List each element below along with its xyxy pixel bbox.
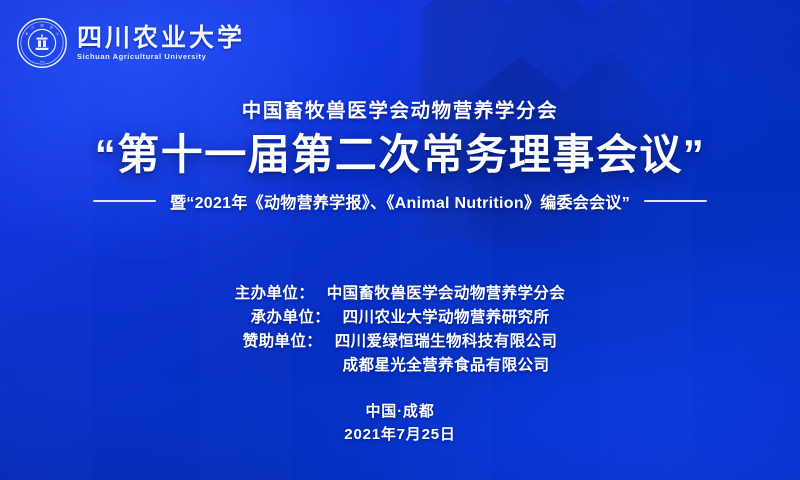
- footer-block: 中国·成都 2021年7月25日: [0, 400, 800, 447]
- credit-row: 主办单位： 中国畜牧兽医学会动物营养学分会: [235, 283, 566, 305]
- organization-kicker: 中国畜牧兽医学会动物营养学分会: [0, 100, 800, 123]
- credit-row: 赞助单位： 四川爱绿恒瑞生物科技有限公司: [243, 331, 558, 353]
- credit-value: 成都星光全营养食品有限公司: [343, 355, 550, 377]
- event-title: “第十一届第二次常务理事会议”: [0, 132, 800, 177]
- credit-label: 主办单位：: [235, 283, 327, 305]
- university-logo: 四 川 学 农 大 1906 四川农业大学 Sichuan Agricultur…: [16, 17, 245, 69]
- university-wordmark: 四川农业大学 Sichuan Agricultural University: [77, 26, 245, 60]
- credit-label: 赞助单位：: [243, 331, 335, 353]
- credits-block: 主办单位： 中国畜牧兽医学会动物营养学分会 承办单位： 四川农业大学动物营养研究…: [0, 283, 800, 377]
- rule-left: [93, 200, 156, 202]
- event-date: 2021年7月25日: [0, 423, 800, 446]
- credit-row-continuation: 成都星光全营养食品有限公司: [251, 355, 550, 377]
- event-subtitle-row: 暨“2021年《动物营养学报》、《Animal Nutrition》编委会会议”: [0, 189, 800, 213]
- credit-value: 四川农业大学动物营养研究所: [343, 307, 550, 329]
- svg-text:四: 四: [40, 23, 43, 27]
- svg-text:1906: 1906: [40, 61, 46, 64]
- rule-right: [644, 200, 707, 202]
- credit-value: 中国畜牧兽医学会动物营养学分会: [327, 283, 566, 305]
- university-name-cn: 四川农业大学: [77, 26, 245, 51]
- university-name-en: Sichuan Agricultural University: [77, 53, 248, 60]
- svg-text:川: 川: [30, 25, 35, 30]
- credit-value: 四川爱绿恒瑞生物科技有限公司: [335, 331, 558, 353]
- event-location: 中国·成都: [0, 400, 800, 423]
- credit-row: 承办单位： 四川农业大学动物营养研究所: [251, 307, 550, 329]
- credit-label: 承办单位：: [251, 307, 343, 329]
- headline-block: 中国畜牧兽医学会动物营养学分会 “第十一届第二次常务理事会议” 暨“2021年《…: [0, 100, 800, 213]
- event-subtitle: 暨“2021年《动物营养学报》、《Animal Nutrition》编委会会议”: [170, 189, 630, 213]
- conference-banner: 四 川 学 农 大 1906 四川农业大学 Sichuan Agricultur…: [0, 0, 800, 480]
- university-seal-icon: 四 川 学 农 大 1906: [16, 17, 68, 69]
